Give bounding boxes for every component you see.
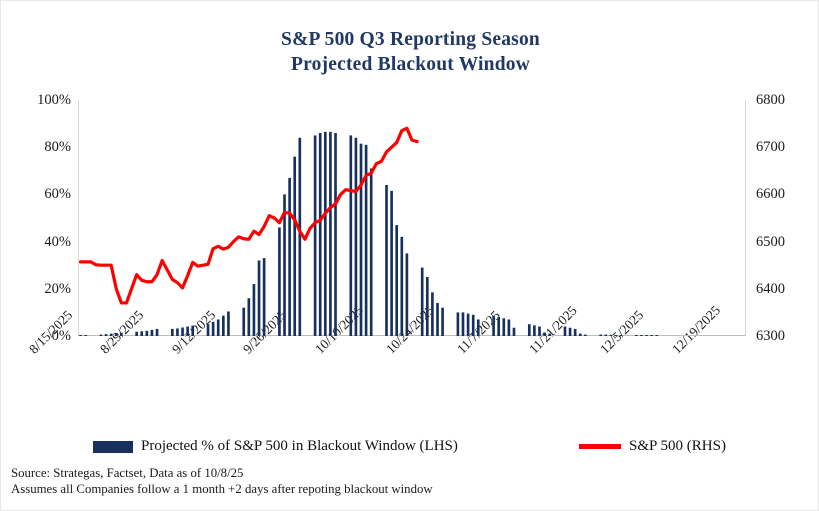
assumption-note: Assumes all Companies follow a 1 month +… <box>11 481 433 497</box>
right-axis-tick-6500: 6500 <box>756 235 785 250</box>
bar-series <box>79 132 658 336</box>
left-axis-tick-40: 40% <box>9 235 71 250</box>
left-axis-tick-60: 60% <box>9 187 71 202</box>
legend-line-swatch-icon <box>579 444 621 449</box>
title-line-1: S&P 500 Q3 Reporting Season <box>281 29 540 50</box>
left-axis-tick-20: 20% <box>9 282 71 297</box>
right-axis-tick-6600: 6600 <box>756 187 785 202</box>
source-note: Source: Strategas, Factset, Data as of 1… <box>11 465 433 481</box>
legend-bar-swatch-icon <box>93 441 133 453</box>
right-axis-tick-6400: 6400 <box>756 282 785 297</box>
legend-item-line: S&P 500 (RHS) <box>579 438 726 455</box>
chart-legend: Projected % of S&P 500 in Blackout Windo… <box>1 438 819 462</box>
legend-bar-label: Projected % of S&P 500 in Blackout Windo… <box>141 438 458 455</box>
axis-lines <box>78 100 746 336</box>
page-title: S&P 500 Q3 Reporting Season Projected Bl… <box>1 27 819 77</box>
title-line-2: Projected Blackout Window <box>1 52 819 77</box>
footnotes: Source: Strategas, Factset, Data as of 1… <box>11 465 433 497</box>
chart-svg <box>78 100 746 336</box>
legend-item-bars: Projected % of S&P 500 in Blackout Windo… <box>93 438 458 455</box>
right-axis-tick-6300: 6300 <box>756 329 785 344</box>
legend-line-label: S&P 500 (RHS) <box>629 438 726 455</box>
chart-container: S&P 500 Q3 Reporting Season Projected Bl… <box>0 0 819 511</box>
right-axis-tick-6800: 6800 <box>756 93 785 108</box>
left-axis-tick-100: 100% <box>9 93 71 108</box>
left-axis-tick-80: 80% <box>9 140 71 155</box>
right-axis-tick-6700: 6700 <box>756 140 785 155</box>
plot-area <box>78 100 746 336</box>
